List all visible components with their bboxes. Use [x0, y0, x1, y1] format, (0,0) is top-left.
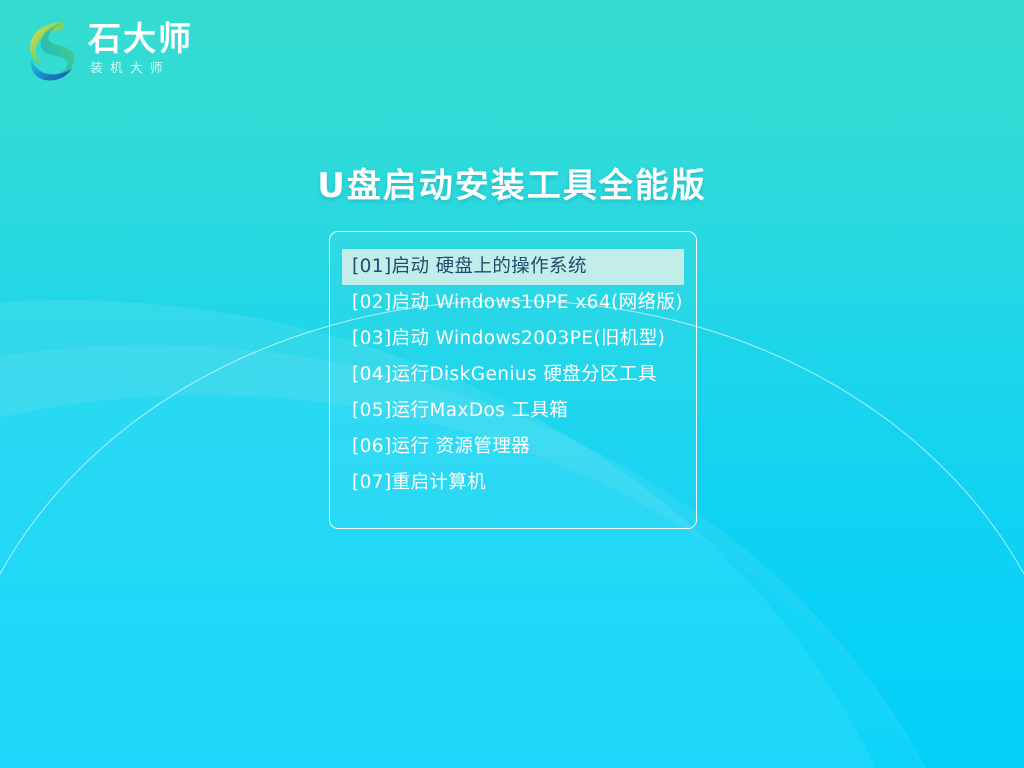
menu-item-05[interactable]: [05]运行MaxDos 工具箱 — [342, 393, 684, 429]
menu-item-07[interactable]: [07]重启计算机 — [342, 465, 684, 501]
menu-item-04[interactable]: [04]运行DiskGenius 硬盘分区工具 — [342, 357, 684, 393]
brand-logo: 石大师 装机大师 — [24, 18, 193, 82]
brand-name: 石大师 — [88, 22, 193, 57]
brand-logo-text: 石大师 装机大师 — [88, 22, 193, 79]
brand-tagline: 装机大师 — [90, 58, 193, 78]
menu-item-01[interactable]: [01]启动 硬盘上的操作系统 — [342, 249, 684, 285]
shi-dashi-leaf-logo-icon — [24, 18, 78, 82]
menu-item-03[interactable]: [03]启动 Windows2003PE(旧机型) — [342, 321, 684, 357]
menu-item-02[interactable]: [02]启动 Windows10PE x64(网络版) — [342, 285, 684, 321]
menu-item-06[interactable]: [06]运行 资源管理器 — [342, 429, 684, 465]
boot-menu-screen: 石大师 装机大师 U盘启动安装工具全能版 [01]启动 硬盘上的操作系统 [02… — [0, 0, 1024, 768]
boot-menu-list: [01]启动 硬盘上的操作系统 [02]启动 Windows10PE x64(网… — [329, 231, 697, 529]
page-title: U盘启动安装工具全能版 — [0, 158, 1024, 207]
